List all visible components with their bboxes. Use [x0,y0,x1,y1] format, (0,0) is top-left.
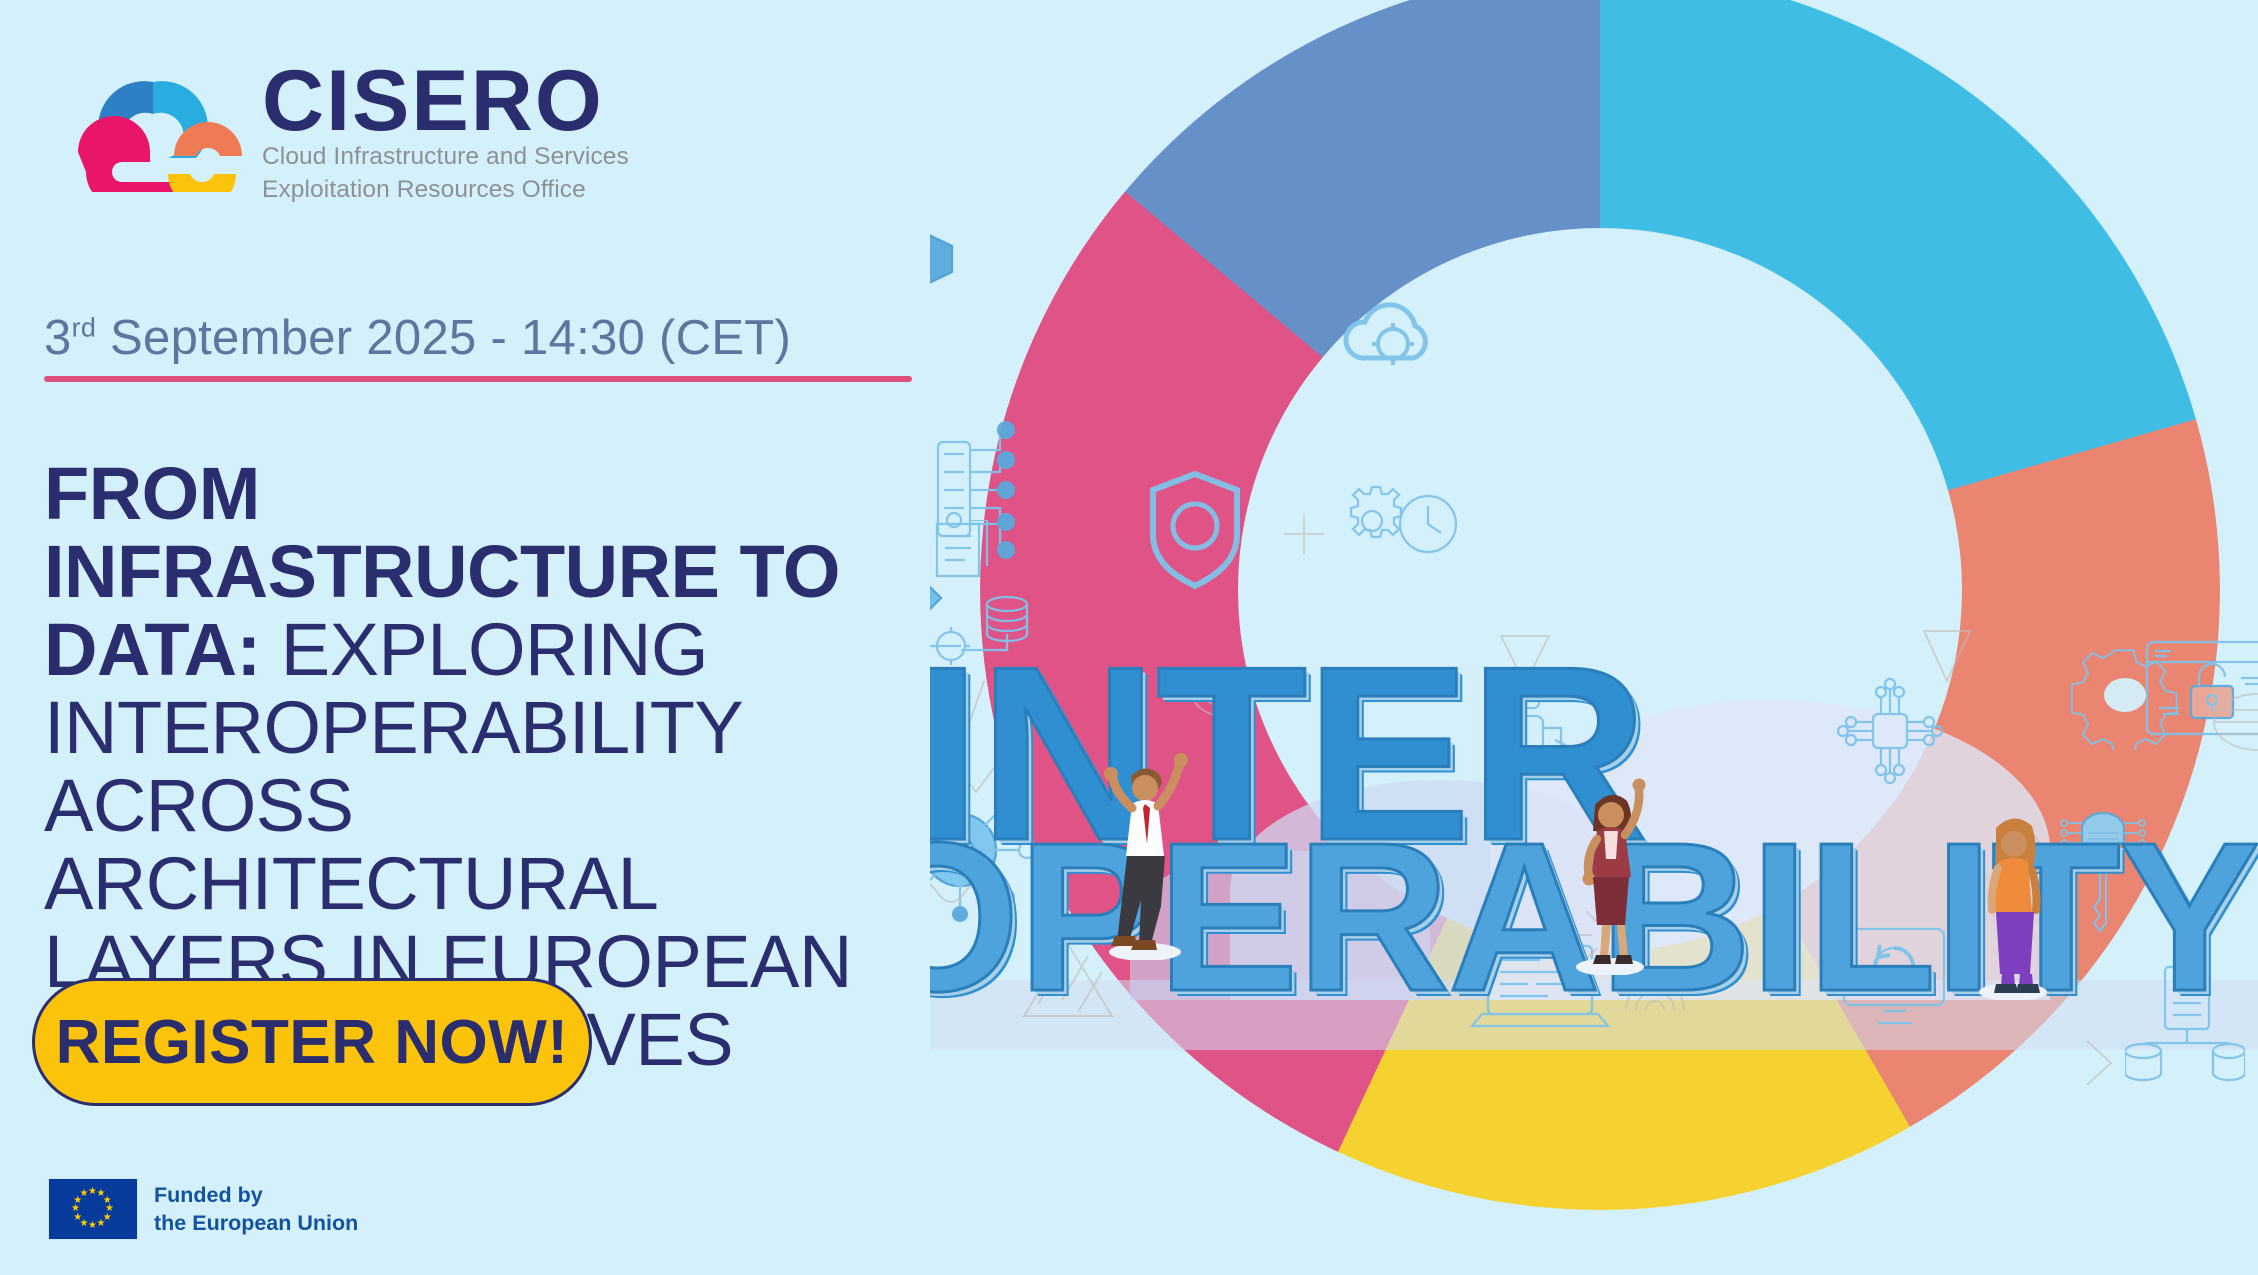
flowchart-icon [930,520,1045,670]
oval-lines-icon [2210,690,2258,754]
left-content-panel: CISERO Cloud Infrastructure and Services… [0,0,940,1275]
cloud-sync-icon [1335,300,1455,384]
gear-clock-icon [1330,480,1460,566]
triangle-small-icon [1920,625,1974,685]
register-now-button[interactable]: REGISTER NOW! [32,978,592,1106]
eu-funding-line1: Funded by [154,1181,358,1209]
eu-star-icon: ★ [97,1219,106,1229]
cloud-rings-logo-icon [64,52,242,192]
eu-star-icon: ★ [80,1189,89,1199]
slash-icon [1470,880,1520,940]
cisero-logo[interactable]: CISERO Cloud Infrastructure and Services… [64,52,629,206]
arc-lines-icon [1185,680,1255,726]
eu-star-icon: ★ [73,1213,82,1223]
date-ordinal: rd [72,313,97,343]
woman-waving-character [1555,765,1665,975]
register-button-label: REGISTER NOW! [56,1007,569,1078]
man-waving-character [1085,740,1205,960]
webinar-banner: INTER OPERABILITY [0,0,2258,1275]
logo-wordmark: CISERO [262,62,629,141]
big-gear-icon [2070,640,2180,750]
triangle-down-icon [1495,630,1555,690]
eu-star-icon: ★ [88,1221,97,1231]
logo-tagline-line1: Cloud Infrastructure and Services [262,141,629,174]
logo-tagline-line2: Exploitation Resources Office [262,174,629,207]
eu-funding-line2: the European Union [154,1209,358,1237]
eu-flag-icon: ★★★★★★★★★★★★ [48,1178,138,1240]
eu-funding-text: Funded by the European Union [154,1181,358,1238]
event-date-row: 3rd September 2025 - 14:30 (CET) [44,310,964,382]
monitor-refresh-icon [1840,925,1950,1029]
plus-icon [1280,510,1328,558]
microchip-icon [1835,670,1945,790]
interoperability-illustration: INTER OPERABILITY [930,0,2258,1275]
server-rack-icon [2125,965,2245,1083]
concentric-ring-graphic [930,0,2258,1275]
eu-funding-badge: ★★★★★★★★★★★★ Funded by the European Unio… [48,1178,358,1240]
event-date: 3rd September 2025 - 14:30 (CET) [44,310,964,366]
date-underline-rule [44,376,912,382]
date-rest: September 2025 - 14:30 (CET) [96,311,791,365]
eu-star-icon: ★ [71,1204,80,1214]
chevron-right-icon [2075,1035,2121,1091]
shield-check-icon [1145,470,1245,590]
date-day: 3 [44,311,72,365]
person-standing-character [1958,800,2068,1000]
logo-text-block: CISERO Cloud Infrastructure and Services… [262,52,629,206]
zigzag-icon [930,760,1010,800]
wifi-arc-icon [1620,970,1690,1016]
hatch-lines-icon [930,675,1000,739]
